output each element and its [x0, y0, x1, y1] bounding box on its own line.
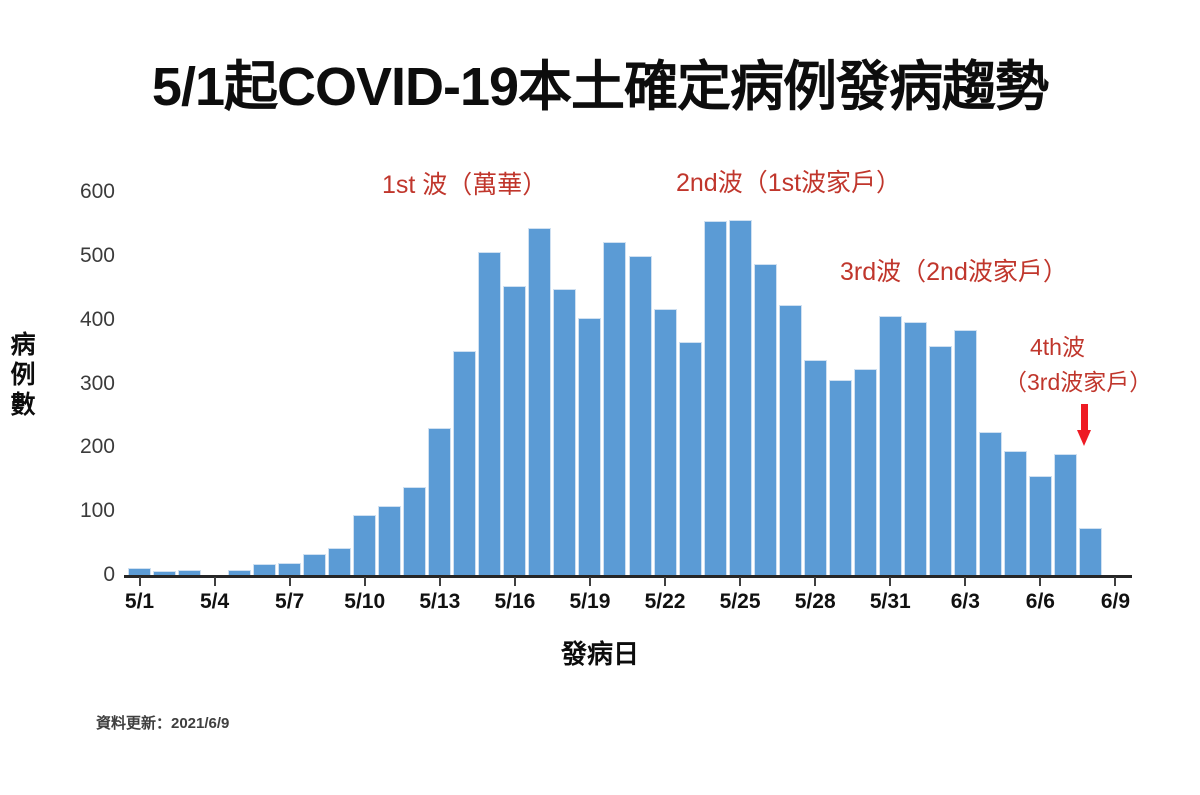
- bar: [553, 289, 576, 576]
- down-arrow-head: [1077, 430, 1091, 446]
- y-tick-label: 400: [63, 308, 115, 332]
- bar: [629, 256, 652, 576]
- x-tick-label: 6/6: [1000, 590, 1080, 614]
- x-tick-label: 5/7: [250, 590, 330, 614]
- x-axis-line: [124, 575, 1132, 578]
- x-tick-label: 5/19: [550, 590, 630, 614]
- y-tick-label: 600: [63, 180, 115, 204]
- bar: [679, 342, 702, 576]
- x-tick-mark: [589, 577, 591, 586]
- x-tick-label: 5/13: [400, 590, 480, 614]
- bar: [704, 221, 727, 576]
- bar: [303, 554, 326, 576]
- y-tick-label: 200: [63, 435, 115, 459]
- x-tick-label: 5/4: [175, 590, 255, 614]
- y-tick-label: 300: [63, 372, 115, 396]
- y-axis-title: 病 例 數: [6, 330, 40, 420]
- bar: [1029, 476, 1052, 576]
- bar: [1004, 451, 1027, 576]
- bar: [328, 548, 351, 576]
- data-update-note: 資料更新：2021/6/9: [96, 712, 229, 733]
- x-tick-label: 5/25: [700, 590, 780, 614]
- x-tick-mark: [139, 577, 141, 586]
- x-tick-mark: [289, 577, 291, 586]
- x-tick-label: 5/22: [625, 590, 705, 614]
- page-title: 5/1起COVID-19本土確定病例發病趨勢: [0, 42, 1200, 121]
- bar: [503, 286, 526, 576]
- bar: [804, 360, 827, 576]
- x-tick-mark: [739, 577, 741, 586]
- x-tick-mark: [889, 577, 891, 586]
- annotation-wave-4-line1: 4th波: [1030, 328, 1085, 362]
- bar: [854, 369, 877, 576]
- annotation-wave-1: 1st 波（萬華）: [382, 165, 547, 201]
- x-axis-title: 發病日: [0, 634, 1200, 671]
- bar: [754, 264, 777, 576]
- x-tick-label: 5/31: [850, 590, 930, 614]
- bar: [353, 515, 376, 576]
- x-tick-mark: [664, 577, 666, 586]
- annotation-wave-3: 3rd波（2nd波家戶）: [840, 252, 1068, 288]
- bar: [403, 487, 426, 576]
- x-tick-mark: [1114, 577, 1116, 586]
- bar: [654, 309, 677, 576]
- x-tick-label: 5/1: [100, 590, 180, 614]
- bar: [954, 330, 977, 576]
- y-axis-title-char-2: 例: [6, 360, 40, 390]
- y-tick-label: 0: [63, 563, 115, 587]
- bar: [779, 305, 802, 576]
- bar: [1054, 454, 1077, 576]
- bar: [904, 322, 927, 576]
- bar: [453, 351, 476, 576]
- x-tick-label: 5/10: [325, 590, 405, 614]
- y-tick-label: 500: [63, 244, 115, 268]
- x-tick-mark: [1039, 577, 1041, 586]
- x-tick-mark: [964, 577, 966, 586]
- bar: [1079, 528, 1102, 576]
- chart-page: 5/1起COVID-19本土確定病例發病趨勢 病 例 數 60050040030…: [0, 0, 1200, 795]
- bar: [378, 506, 401, 576]
- x-tick-label: 5/28: [775, 590, 855, 614]
- x-tick-label: 5/16: [475, 590, 555, 614]
- bar: [729, 220, 752, 576]
- bar: [478, 252, 501, 576]
- y-axis-title-char-1: 病: [6, 330, 40, 360]
- x-tick-mark: [514, 577, 516, 586]
- annotation-wave-2: 2nd波（1st波家戶）: [676, 163, 901, 199]
- bar: [428, 428, 451, 576]
- x-tick-mark: [364, 577, 366, 586]
- down-arrow-icon: [1076, 404, 1092, 448]
- bar: [829, 380, 852, 576]
- x-tick-mark: [439, 577, 441, 586]
- y-tick-label: 100: [63, 499, 115, 523]
- x-tick-label: 6/3: [925, 590, 1005, 614]
- bar: [578, 318, 601, 576]
- x-tick-mark: [214, 577, 216, 586]
- bar: [528, 228, 551, 576]
- x-tick-mark: [814, 577, 816, 586]
- bar: [603, 242, 626, 576]
- bar-series: [127, 193, 1128, 576]
- annotation-wave-4-line2: （3rd波家戶）: [1004, 363, 1152, 397]
- x-tick-label: 6/9: [1075, 590, 1155, 614]
- bar: [979, 432, 1002, 576]
- bar: [879, 316, 902, 576]
- bar: [929, 346, 952, 576]
- y-axis-title-char-3: 數: [6, 390, 40, 420]
